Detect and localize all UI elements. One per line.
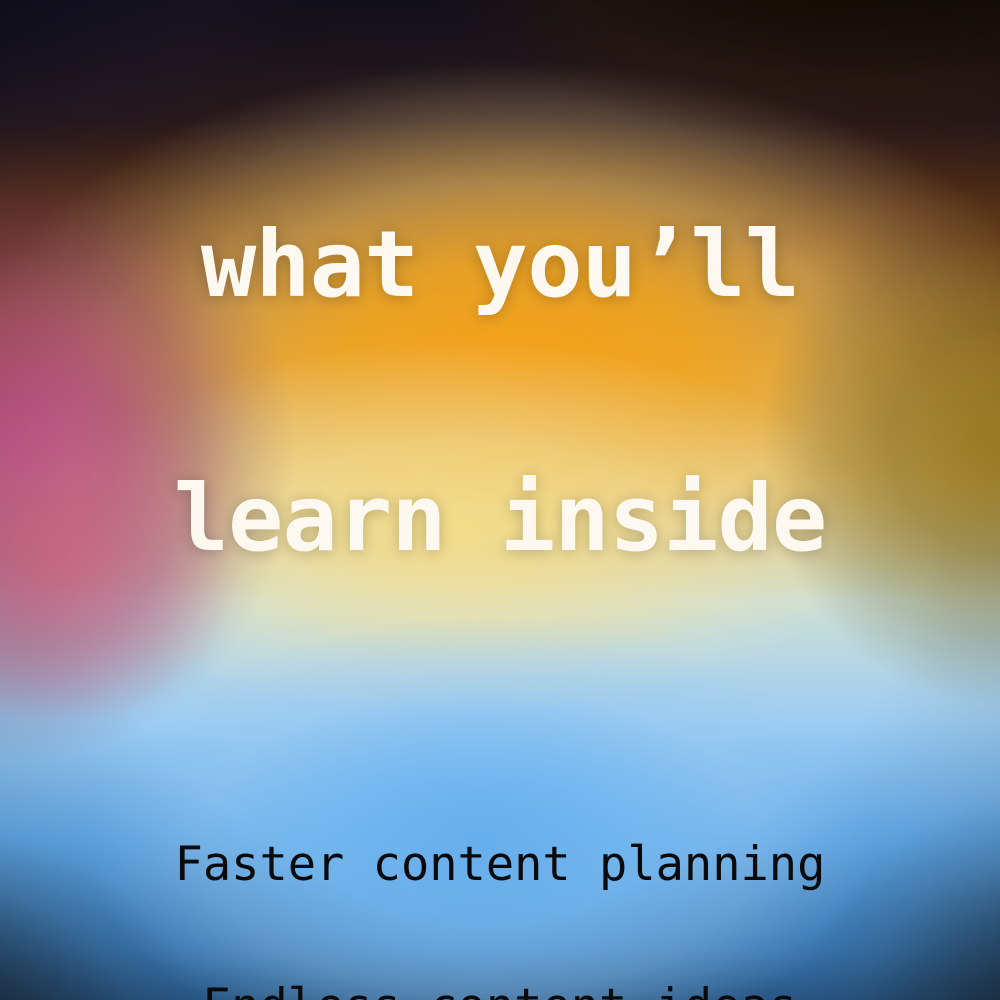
page-title-line-1: what you’ll bbox=[0, 223, 1000, 308]
page-title-line-2: learn inside bbox=[0, 477, 1000, 562]
page-title: what you’ll learn inside bbox=[0, 54, 1000, 731]
content-stack: what you’ll learn inside Faster content … bbox=[0, 0, 1000, 1000]
benefit-list: Faster content planning Endless content … bbox=[0, 793, 1000, 1000]
promo-graphic-canvas: what you’ll learn inside Faster content … bbox=[0, 0, 1000, 1000]
list-item: Faster content planning bbox=[0, 793, 1000, 935]
list-item: Endless content ideas bbox=[0, 935, 1000, 1000]
